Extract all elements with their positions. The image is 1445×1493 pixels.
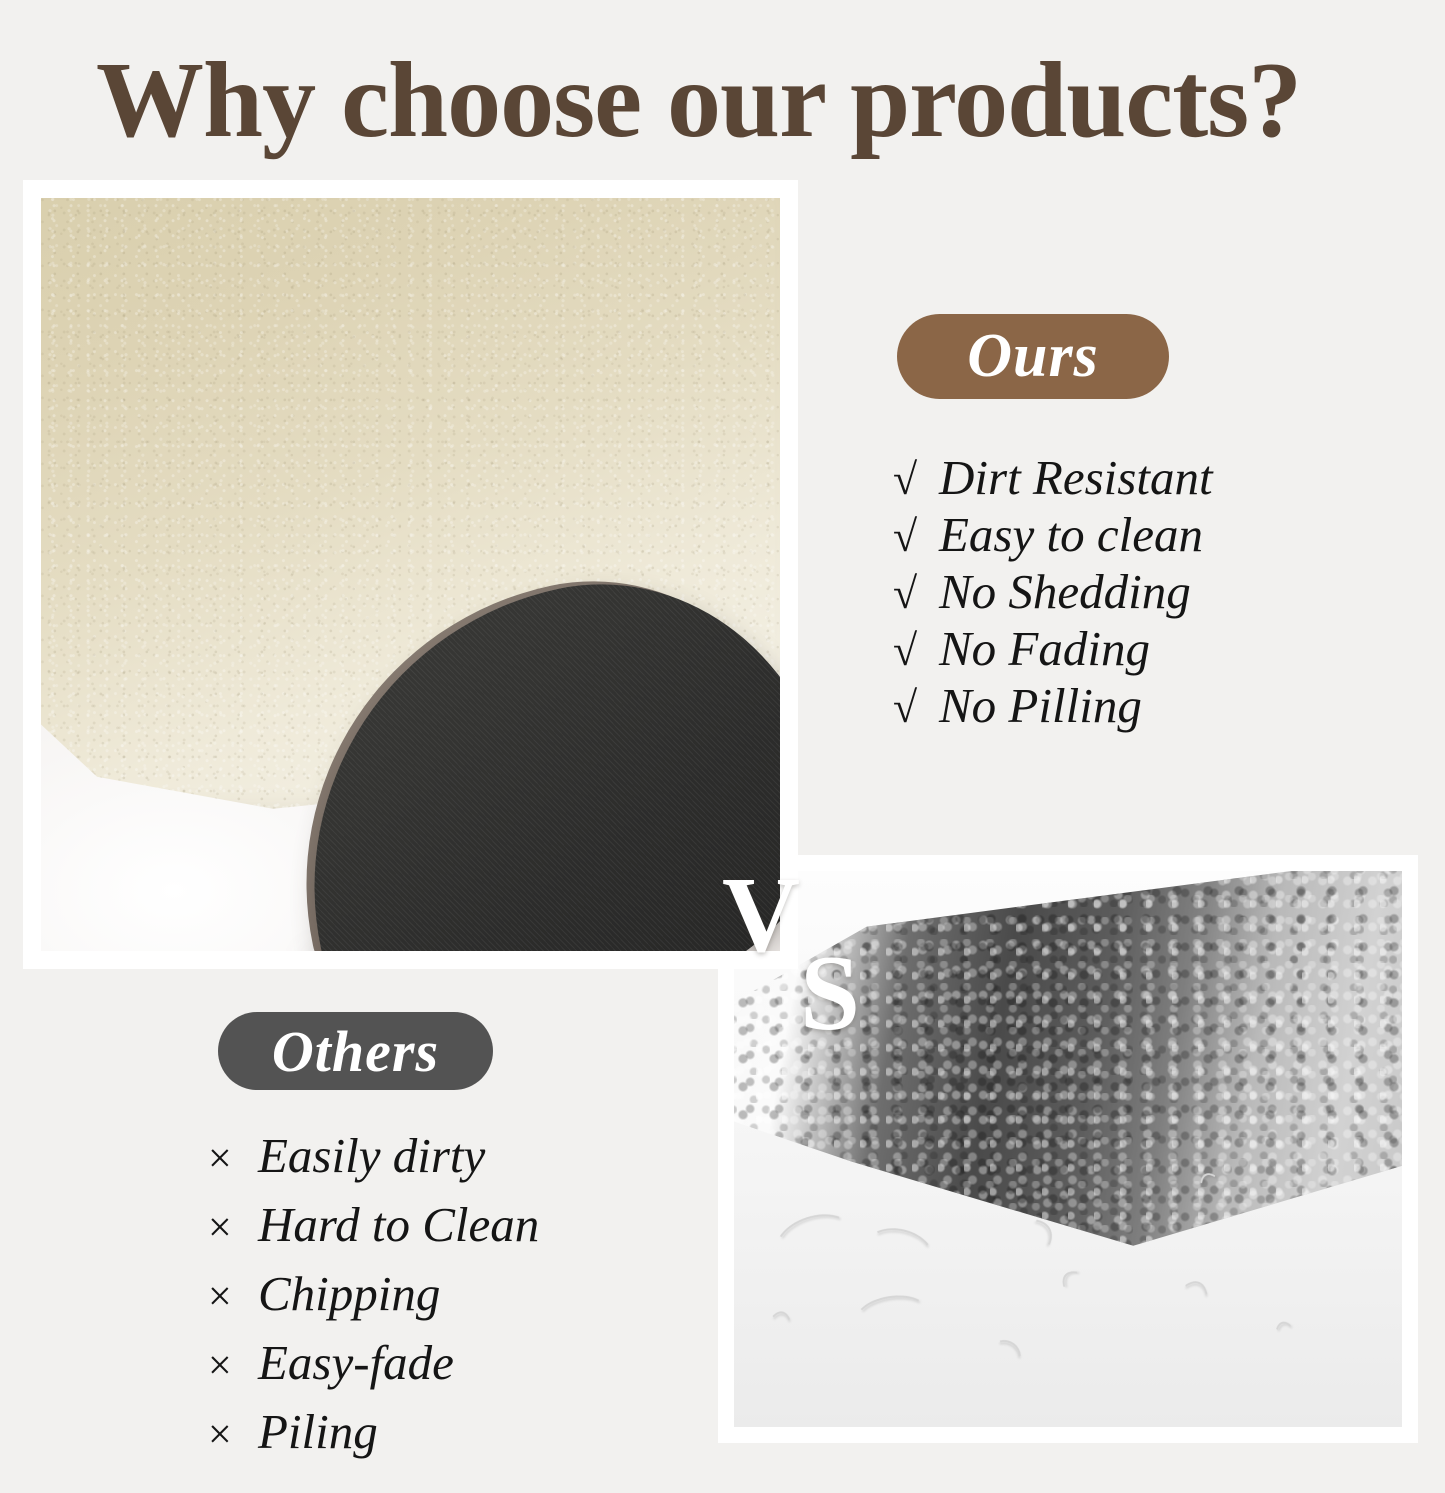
vs-letter-s: S [800,940,860,1048]
cross-icon: × [208,1127,258,1192]
ours-feature-label: No Shedding [939,564,1191,619]
cross-icon: × [208,1265,258,1330]
ours-product-photo [41,198,780,951]
ours-product-photo-frame [23,180,798,969]
list-item: × Chipping [208,1261,539,1330]
infographic-page: Why choose our products? [0,0,1445,1493]
ours-badge: Ours [897,314,1169,399]
list-item: × Easy-fade [208,1330,539,1399]
cross-icon: × [208,1196,258,1261]
check-icon: √ [893,452,939,507]
others-feature-label: Chipping [258,1261,440,1326]
others-feature-label: Hard to Clean [258,1192,539,1257]
vs-letter-v: V [722,862,800,970]
check-icon: √ [893,509,939,564]
list-item: × Hard to Clean [208,1192,539,1261]
list-item: √ No Shedding [893,564,1213,621]
ours-feature-label: No Pilling [939,678,1142,733]
others-feature-label: Easy-fade [258,1330,454,1395]
others-badge: Others [218,1012,493,1090]
others-feature-label: Easily dirty [258,1123,485,1188]
ours-feature-list: √ Dirt Resistant √ Easy to clean √ No Sh… [893,450,1213,735]
list-item: √ Easy to clean [893,507,1213,564]
check-icon: √ [893,623,939,678]
ours-feature-label: Dirt Resistant [939,450,1213,505]
list-item: √ No Pilling [893,678,1213,735]
check-icon: √ [893,680,939,735]
cross-icon: × [208,1334,258,1399]
others-feature-label: Piling [258,1399,378,1464]
cross-icon: × [208,1403,258,1468]
list-item: × Piling [208,1399,539,1468]
list-item: √ Dirt Resistant [893,450,1213,507]
ours-feature-label: Easy to clean [939,507,1203,562]
ours-feature-label: No Fading [939,621,1150,676]
others-feature-list: × Easily dirty × Hard to Clean × Chippin… [208,1123,539,1468]
list-item: × Easily dirty [208,1123,539,1192]
page-title: Why choose our products? [96,44,1386,157]
check-icon: √ [893,566,939,621]
list-item: √ No Fading [893,621,1213,678]
